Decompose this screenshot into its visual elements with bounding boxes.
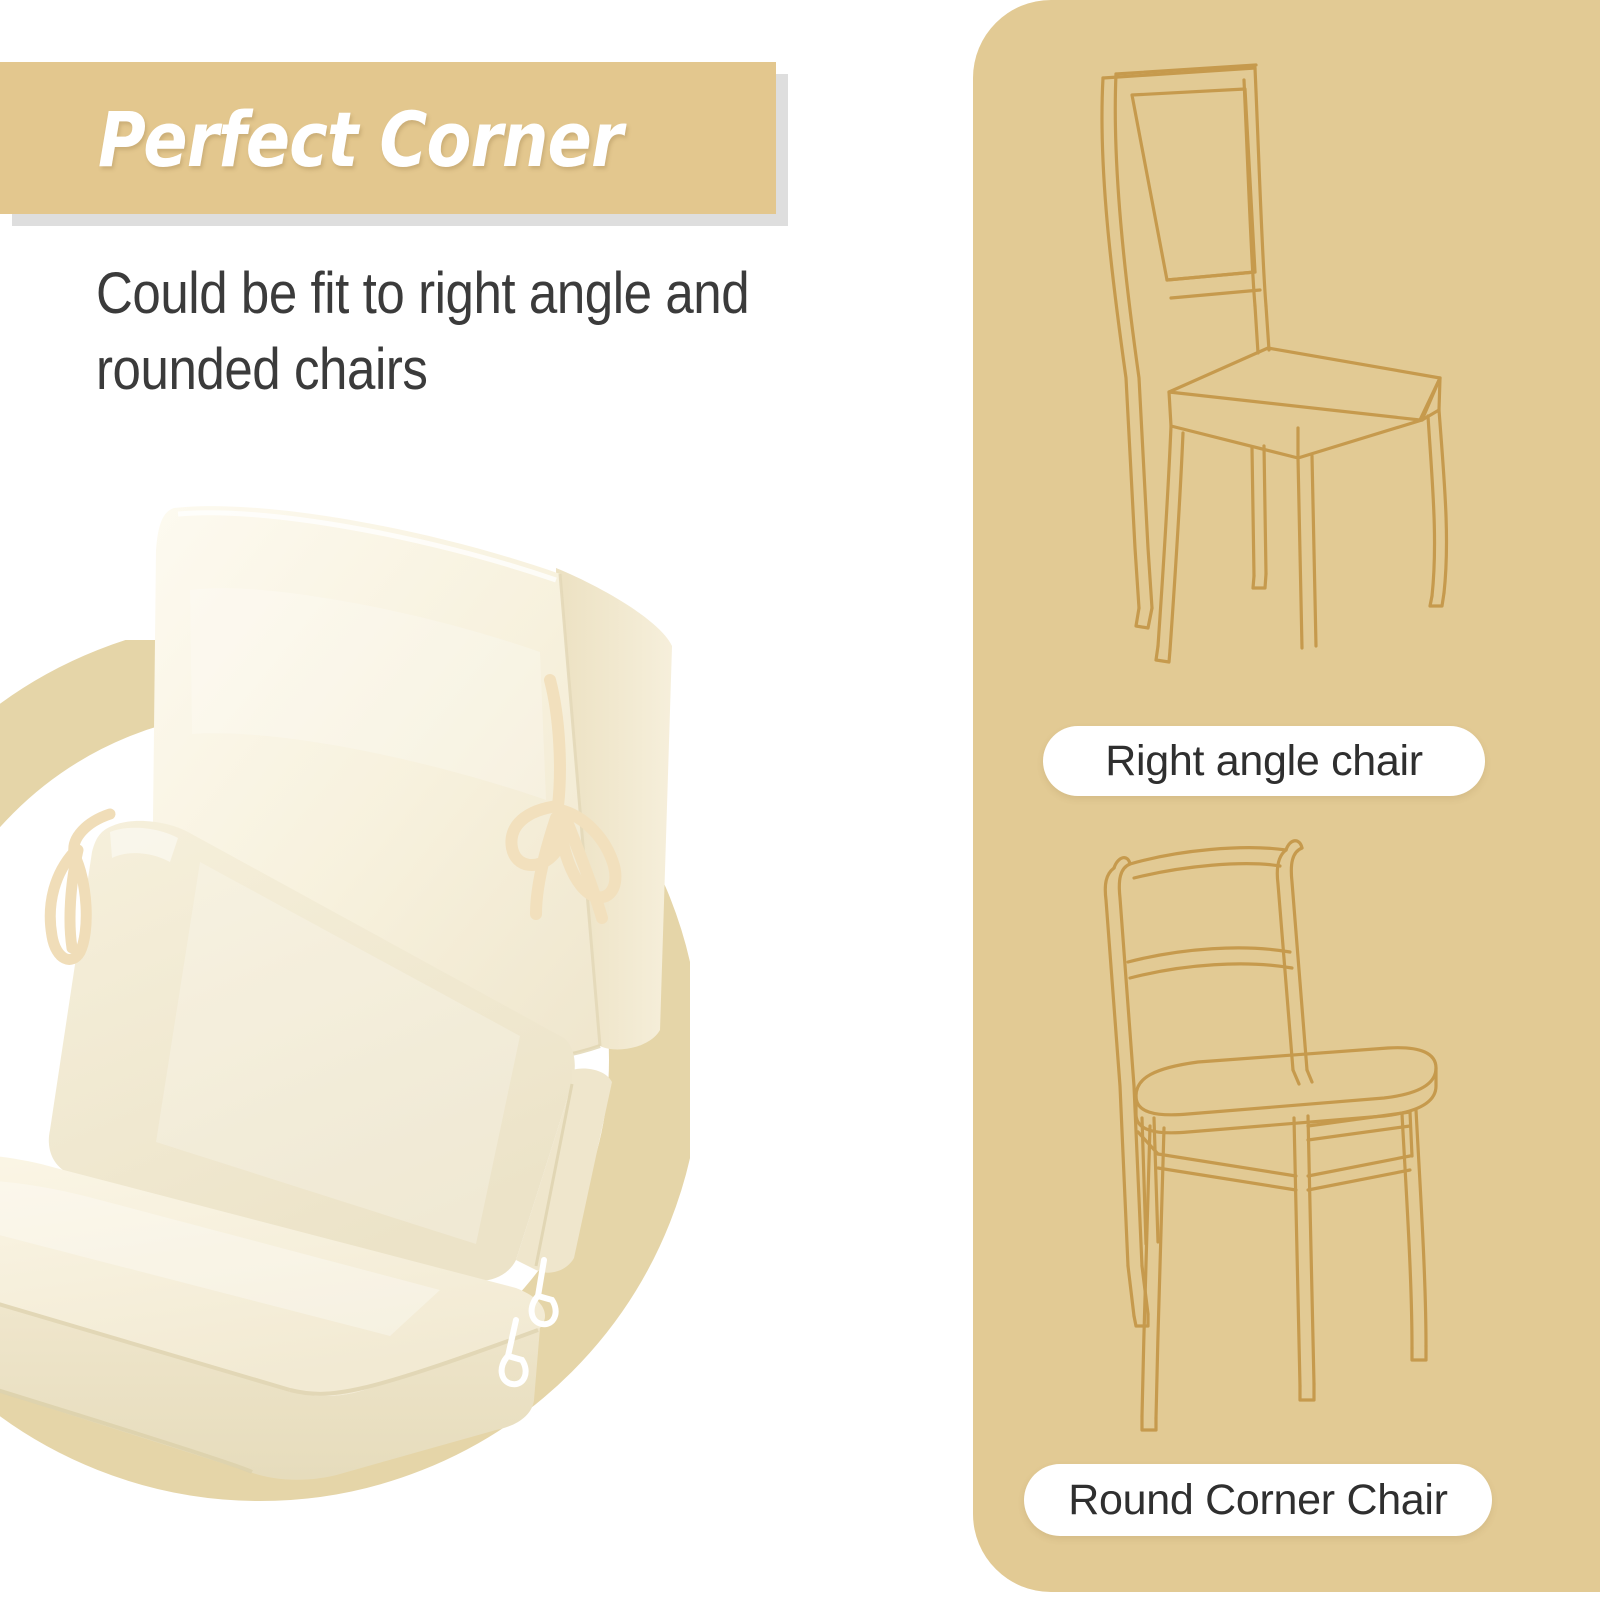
page-title: Perfect Corner: [98, 86, 666, 196]
infographic-root: Right angle chair: [0, 0, 1600, 1600]
page-subtitle: Could be fit to right angle and rounded …: [96, 256, 826, 408]
right-angle-chair-illustration: [1040, 48, 1460, 678]
product-cushion-image: [0, 470, 700, 1480]
round-corner-chair-illustration: [1058, 826, 1488, 1456]
label-round-corner-chair[interactable]: Round Corner Chair: [1024, 1464, 1492, 1536]
label-round-corner-chair-text: Round Corner Chair: [1068, 1476, 1447, 1525]
label-right-angle-chair[interactable]: Right angle chair: [1043, 726, 1485, 796]
label-right-angle-chair-text: Right angle chair: [1105, 737, 1423, 786]
